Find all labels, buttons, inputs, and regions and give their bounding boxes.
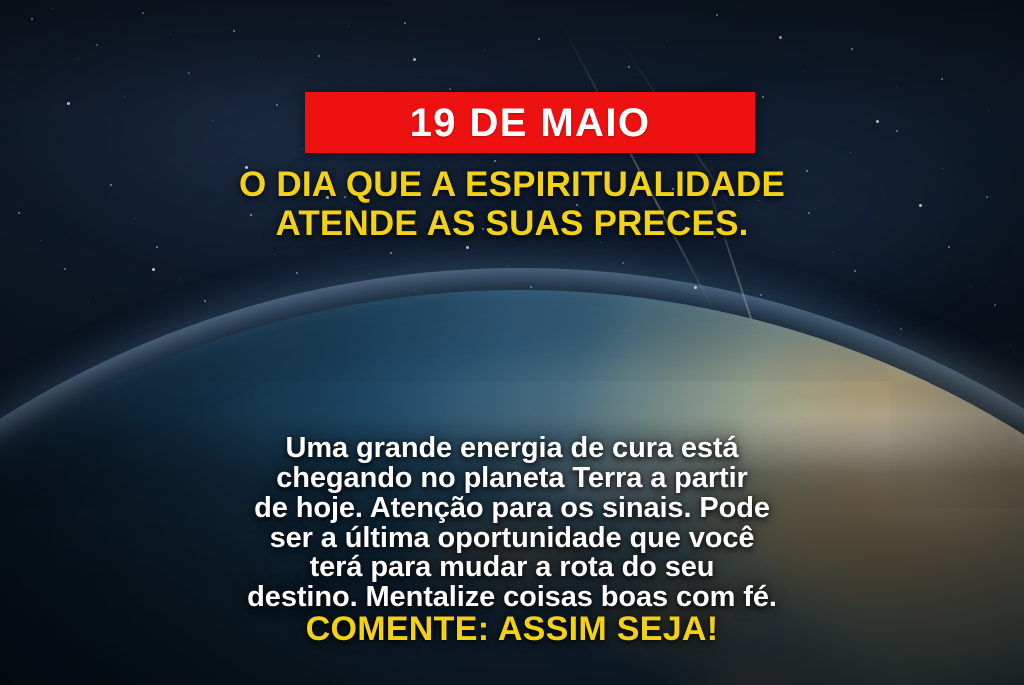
body-line-6: destino. Mentalize coisas boas com fé.	[56, 583, 968, 613]
body-copy: Uma grande energia de cura está chegando…	[0, 434, 1024, 613]
call-to-action: COMENTE: ASSIM SEJA!	[0, 612, 1024, 646]
body-line-1: Uma grande energia de cura está	[56, 434, 968, 464]
poster-content: 19 DE MAIO O DIA QUE A ESPIRITUALIDADE A…	[0, 0, 1024, 685]
headline-line-2: ATENDE AS SUAS PRECES.	[40, 205, 984, 244]
body-line-3: de hoje. Atenção para os sinais. Pode	[56, 494, 968, 524]
headline-line-1: O DIA QUE A ESPIRITUALIDADE	[40, 166, 984, 205]
date-badge: 19 DE MAIO	[305, 92, 755, 153]
body-line-5: terá para mudar a rota do seu	[56, 553, 968, 583]
call-to-action-label: COMENTE: ASSIM SEJA!	[306, 610, 719, 648]
body-line-2: chegando no planeta Terra a partir	[56, 464, 968, 494]
body-line-4: ser a última oportunidade que você	[56, 524, 968, 554]
headline: O DIA QUE A ESPIRITUALIDADE ATENDE AS SU…	[0, 166, 1024, 243]
poster-canvas: 19 DE MAIO O DIA QUE A ESPIRITUALIDADE A…	[0, 0, 1024, 685]
date-badge-label: 19 DE MAIO	[410, 103, 651, 143]
